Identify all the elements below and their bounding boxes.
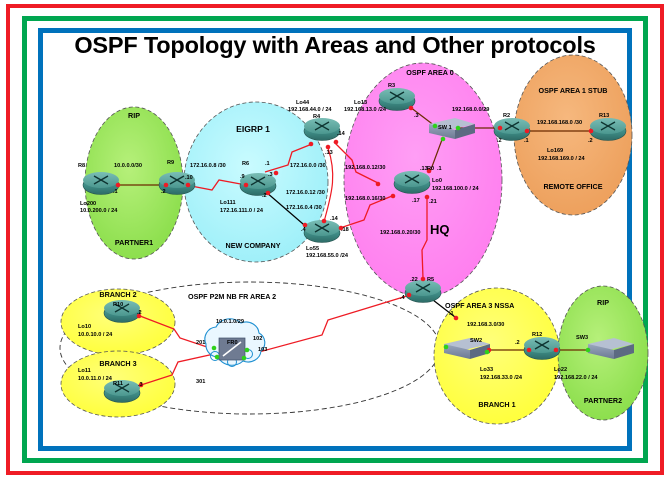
- iface-r0-21: .21: [429, 199, 437, 206]
- loopback-lo10-name: Lo10: [78, 324, 91, 331]
- loopback-lo44-name: Lo44: [296, 100, 309, 107]
- iface-r4-14: .14: [337, 131, 345, 138]
- network-label-172-16-0-4: 172.16.0.4 /30: [286, 205, 322, 212]
- network-label-10-0-1-0: 10.0.1.0/29: [216, 319, 244, 326]
- device-label-sw2: SW2: [470, 338, 482, 345]
- area-label-branch1-bottom: BRANCH 1: [478, 401, 515, 409]
- page-title: OSPF Topology with Areas and Other proto…: [0, 32, 670, 59]
- area-label-frarea2: OSPF P2M NB FR AREA 2: [188, 293, 276, 301]
- area-label-hq-top: OSPF AREA 0: [406, 69, 453, 77]
- loopback-lo13-name: Lo13: [354, 100, 367, 107]
- network-label-172-16-0-8: 172.16.0.8 /30: [190, 163, 226, 170]
- area-label-newcompany-top: EIGRP 1: [236, 124, 270, 134]
- device-label-r13: R13: [599, 113, 609, 120]
- iface-r12-2: .2: [515, 340, 520, 347]
- area-label-remote-bottom: REMOTE OFFICE: [543, 183, 602, 191]
- loopback-lo111-name: Lo111: [220, 200, 236, 207]
- loopback-lo10-net: 10.0.10.0 / 24: [78, 332, 112, 339]
- iface-r5-14: .14: [330, 216, 338, 223]
- area-label-branch3: BRANCH 3: [99, 360, 136, 368]
- loopback-lo22-name: Lo22: [554, 367, 567, 374]
- device-label-r5b: R5: [427, 277, 434, 284]
- iface-r5b-4: .4: [400, 295, 405, 302]
- loopback-lo0-net: 192.168.100.0 / 24: [432, 186, 479, 193]
- device-label-r4: R4: [313, 114, 320, 121]
- area-label-remote-top: OSPF AREA 1 STUB: [539, 87, 608, 95]
- iface-r9-2: .2: [161, 189, 166, 196]
- iface-r6-2: .2: [262, 193, 267, 200]
- iface-r6-to-r4: .3: [268, 172, 273, 179]
- iface-r9-10: .10: [185, 175, 193, 182]
- iface-r5-18: .18: [341, 227, 349, 234]
- network-label-192-168-0-16: 192.168.0.16/30: [345, 196, 385, 203]
- area-label-branch1-top: OSPF AREA 3 NSSA: [445, 302, 514, 310]
- iface-r5b-22: .22: [410, 277, 418, 284]
- iface-r13-2: .2: [588, 138, 593, 145]
- iface-r5-4: .4: [301, 227, 306, 234]
- network-label-192-168-0-20: 192.168.0.20/30: [380, 230, 420, 237]
- device-label-r6: R6: [242, 161, 249, 168]
- device-label-fr0: FR0: [227, 340, 238, 347]
- loopback-lo111-net: 172.16.111.0 / 24: [220, 208, 263, 215]
- loopback-lo33-name: Lo33: [480, 367, 493, 374]
- iface-r11-3: .3: [138, 382, 143, 389]
- device-label-r2: R2: [503, 113, 510, 120]
- iface-r10-2: .2: [137, 310, 142, 317]
- loopback-lo55-name: Lo55: [306, 246, 319, 253]
- area-label-newcompany-bottom: NEW COMPANY: [226, 242, 281, 250]
- loopback-lo11-net: 10.0.11.0 / 24: [78, 376, 112, 383]
- loopback-lo22-net: 192.168.22.0 / 24: [554, 375, 598, 382]
- device-label-r11: R11: [113, 381, 123, 388]
- loopback-lo169-name: Lo169: [547, 148, 563, 155]
- area-label-hq-bottom: HQ: [430, 222, 450, 237]
- area-label-partner1-bottom: PARTNER1: [115, 239, 153, 247]
- network-label-172-16-0-0: 172.16.0.0 /30: [290, 163, 326, 170]
- area-label-partner2-bottom: PARTNER2: [584, 397, 622, 405]
- iface-branch1-1: .1: [449, 311, 454, 318]
- device-label-r0: R0: [427, 166, 434, 173]
- network-label-10-0-0-0: 10.0.0.0/30: [114, 163, 142, 170]
- iface-r8-1: .1: [113, 189, 118, 196]
- iface-r6-1: .1: [265, 161, 270, 168]
- network-label-192-168-0-0: 192.168.0.0/29: [452, 107, 489, 114]
- device-label-r9: R9: [167, 160, 174, 167]
- device-label-r8: R8: [78, 163, 85, 170]
- area-label-partner2-top: RIP: [597, 299, 609, 307]
- iface-r4-13: .13: [325, 150, 333, 157]
- dlci-201: 201: [196, 340, 205, 347]
- iface-r6-9: .9: [240, 174, 245, 181]
- loopback-lo33-net: 192.168.33.0 /24: [480, 375, 522, 382]
- iface-r0-1: .1: [437, 166, 442, 173]
- loopback-lo55-net: 192.168.55.0 /24: [306, 253, 348, 260]
- network-label-192-168-0-12: 192.168.0.12/30: [345, 165, 385, 172]
- device-label-sw3: SW3: [576, 335, 588, 342]
- network-label-192-168-3-0: 192.168.3.0/30: [467, 322, 504, 329]
- area-label-partner1-top: RIP: [128, 112, 140, 120]
- device-label-r12: R12: [532, 332, 542, 339]
- loopback-lo169-net: 192.168.169.0 / 24: [538, 156, 585, 163]
- diagram-frame: OSPF Topology with Areas and Other proto…: [0, 0, 670, 480]
- loopback-lo11-name: Lo11: [78, 368, 91, 375]
- iface-r2-2: .2: [497, 138, 502, 145]
- device-label-sw1: SW 1: [438, 125, 452, 132]
- loopback-lo13-net: 192.168.13.0 /24: [344, 107, 386, 114]
- area-label-branch2: BRANCH 2: [99, 291, 136, 299]
- iface-r3-3: .3: [414, 113, 419, 120]
- iface-r0-17: .17: [412, 198, 420, 205]
- dlci-103: 103: [258, 347, 267, 354]
- dlci-102: 102: [253, 336, 262, 343]
- device-label-r10: R10: [113, 302, 123, 309]
- loopback-lo0-name: Lo0: [432, 178, 442, 185]
- loopback-lo200-net: 10.0.200.0 / 24: [80, 208, 117, 215]
- network-label-192-168-168-0: 192.168.168.0 /30: [537, 120, 582, 127]
- loopback-lo200-name: Lo200: [80, 201, 96, 208]
- network-label-172-16-0-12: 172.16.0.12 /30: [286, 190, 325, 197]
- dlci-301: 301: [196, 379, 205, 386]
- iface-r2-1: .1: [524, 138, 529, 145]
- loopback-lo44-net: 192.168.44.0 / 24: [288, 107, 332, 114]
- device-label-r3: R3: [388, 83, 395, 90]
